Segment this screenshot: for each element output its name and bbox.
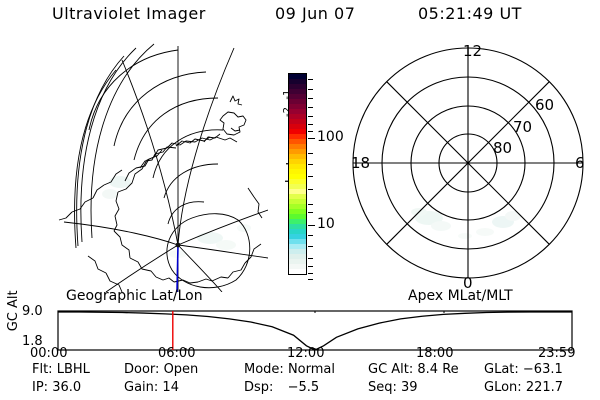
orbit-xtick-0600: 06:00: [158, 346, 195, 361]
colorbar-minor-tick: [308, 189, 313, 190]
status-mode: Mode: Normal: [244, 362, 335, 377]
colorbar-minor-tick: [308, 258, 313, 259]
status-glat-value: −63.1: [523, 362, 563, 377]
colorbar-major-tick: [308, 225, 315, 226]
status-gcalt-value: 8.4 Re: [417, 362, 458, 377]
colorbar-minor-tick: [308, 131, 313, 132]
status-dsp-key: Dsp:: [244, 380, 273, 395]
colorbar-minor-tick: [308, 124, 313, 125]
status-gain-key: Gain:: [124, 380, 158, 395]
status-dsp: Dsp: −5.5: [244, 380, 319, 395]
observation-time: 05:21:49 UT: [418, 4, 522, 23]
status-seq: Seq: 39: [368, 380, 418, 395]
status-row-2: IP: 36.0 Gain: 14 Dsp: −5.5 Seq: 39 GLon…: [0, 380, 600, 397]
status-glat-key: GLat:: [484, 362, 519, 377]
status-mode-value: Normal: [288, 362, 335, 377]
mlt-spokes: [353, 48, 583, 278]
colorbar-band: [289, 269, 306, 274]
header-bar: Ultraviolet Imager 09 Jun 07 05:21:49 UT: [0, 4, 600, 34]
apex-polar-panel[interactable]: 12 18 6 0 60 70 80: [345, 40, 595, 290]
meridian-graticule: [64, 46, 268, 292]
status-dsp-value: −5.5: [288, 380, 320, 395]
colorbar-minor-tick: [308, 176, 313, 177]
subsatellite-meridian-line: [177, 245, 178, 292]
mlt-label-18: 18: [351, 154, 370, 172]
status-ip-value: 36.0: [52, 380, 81, 395]
orbit-plot-frame: [58, 311, 572, 350]
colorbar-gradient-strip: [288, 73, 307, 275]
colorbar-major-tick: [308, 138, 315, 139]
status-mode-key: Mode:: [244, 362, 284, 377]
status-row-1: Flt: LBHL Door: Open Mode: Normal GC Alt…: [0, 362, 600, 379]
orbit-xtick-1800: 18:00: [416, 346, 453, 361]
colorbar-minor-tick: [308, 246, 313, 247]
colorbar-minor-tick: [308, 89, 313, 90]
colorbar-minor-tick: [308, 204, 313, 205]
colorbar-minor-tick: [308, 266, 313, 267]
geographic-image-panel[interactable]: [58, 42, 268, 292]
mlat-label-80: 80: [493, 139, 512, 157]
colorbar-minor-tick: [308, 153, 313, 154]
colorbar-minor-tick: [308, 116, 313, 117]
orbit-xtick-2359: 23:59: [538, 346, 575, 361]
colorbar-minor-tick: [308, 273, 313, 274]
orbit-xtick-1200: 12:00: [287, 346, 324, 361]
status-door-key: Door:: [124, 362, 159, 377]
colorbar-minor-tick: [308, 235, 313, 236]
status-ip-key: IP:: [32, 380, 48, 395]
status-seq-key: Seq:: [368, 380, 397, 395]
status-seq-value: 39: [401, 380, 418, 395]
observation-date: 09 Jun 07: [275, 4, 355, 23]
orbit-xtick-0000: 00:00: [30, 346, 67, 361]
status-flight: Flt: LBHL: [32, 362, 90, 377]
status-glon-value: 221.7: [526, 380, 563, 395]
status-flight-value: LBHL: [57, 362, 90, 377]
colorbar-label-10: 10: [317, 217, 335, 231]
mlat-label-60: 60: [535, 96, 554, 114]
aurora-emission-polar: [411, 208, 521, 239]
instrument-title: Ultraviolet Imager: [52, 4, 206, 23]
status-gain-value: 14: [162, 380, 179, 395]
apex-polar-svg: 12 18 6 0 60 70 80: [345, 40, 595, 290]
mlat-label-70: 70: [513, 118, 532, 136]
nadir-point-marker: [176, 243, 181, 248]
colorbar-minor-tick: [308, 79, 313, 80]
status-flight-key: Flt:: [32, 362, 53, 377]
mlt-label-12: 12: [463, 42, 482, 60]
coastlines: [59, 96, 262, 292]
colorbar-minor-tick: [308, 164, 313, 165]
status-gcalt-key: GC Alt:: [368, 362, 413, 377]
geographic-projection-svg: [58, 42, 268, 292]
status-glon: GLon: 221.7: [484, 380, 563, 395]
colorbar-minor-tick: [308, 212, 313, 213]
orbit-x-ticks: [186, 311, 444, 350]
mlt-label-6: 6: [575, 154, 585, 172]
status-door-value: Open: [164, 362, 199, 377]
colorbar-label-100: 100: [317, 130, 344, 144]
colorbar-minor-tick: [308, 279, 313, 280]
orbit-altitude-panel[interactable]: Geographic Lat/Lon Apex MLat/MLT GC Alt …: [0, 288, 600, 356]
status-door: Door: Open: [124, 362, 198, 377]
colorbar-minor-tick: [308, 107, 313, 108]
colorbar-minor-tick: [308, 98, 313, 99]
status-ip: IP: 36.0: [32, 380, 81, 395]
status-glon-key: GLon:: [484, 380, 522, 395]
colorbar: photon cm-2s-1 100 10: [262, 60, 352, 290]
status-glat: GLat: −63.1: [484, 362, 563, 377]
orbit-altitude-curve: [58, 312, 572, 350]
status-gain: Gain: 14: [124, 380, 179, 395]
status-bar: Flt: LBHL Door: Open Mode: Normal GC Alt…: [0, 362, 600, 400]
status-gcalt: GC Alt: 8.4 Re: [368, 362, 459, 377]
